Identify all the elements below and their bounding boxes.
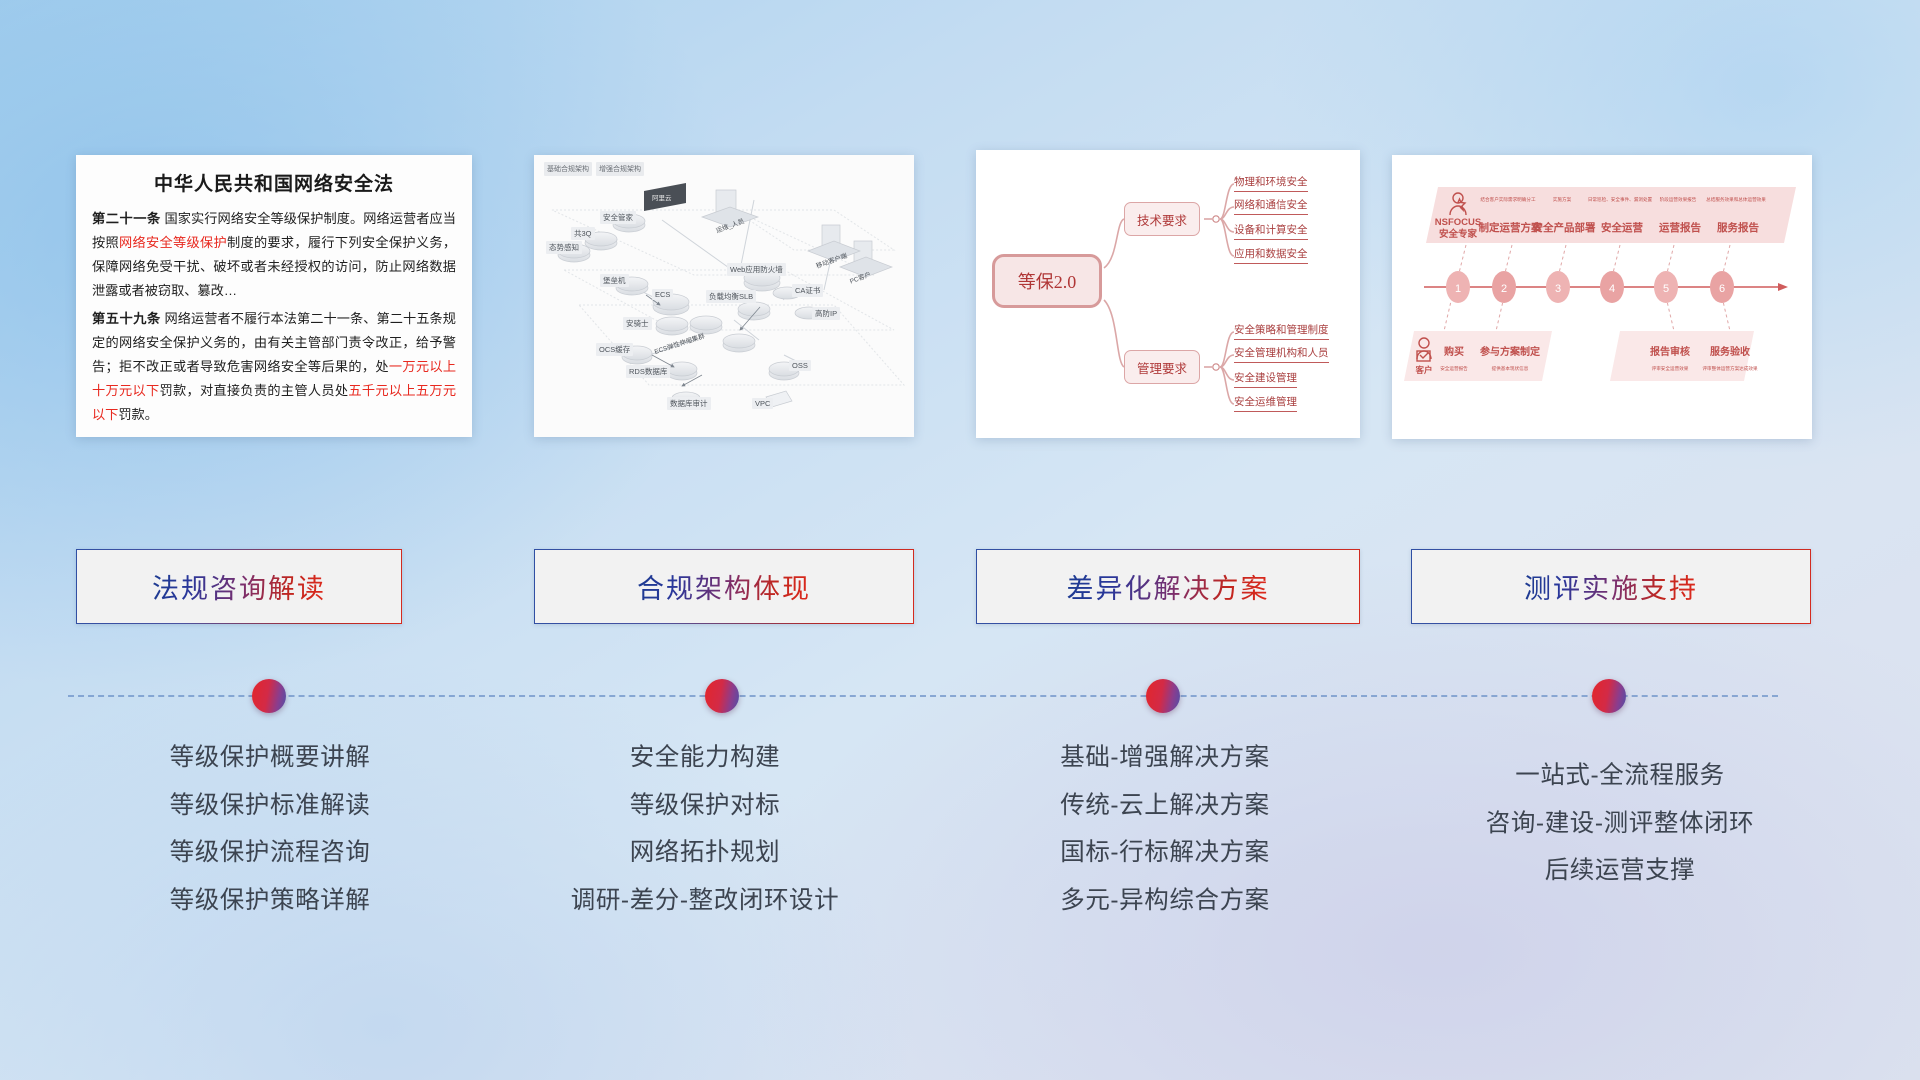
timeline-dot-1[interactable] <box>252 679 286 713</box>
list-item: 调研-差分-整改闭环设计 <box>495 878 915 926</box>
list-item: 传统-云上解决方案 <box>945 783 1385 831</box>
list-item: 多元-异构综合方案 <box>945 878 1385 926</box>
pill-differentiated-solution[interactable]: 差异化解决方案 <box>976 549 1360 624</box>
pill-assessment-support[interactable]: 测评实施支持 <box>1411 549 1811 624</box>
timeline-dashed-line <box>68 695 1778 697</box>
pill-compliance-architecture[interactable]: 合规架构体现 <box>534 549 914 624</box>
list-item: 咨询-建设-测评整体闭环 <box>1400 801 1840 849</box>
list-item: 一站式-全流程服务 <box>1400 753 1840 801</box>
detail-column-1: 等级保护概要讲解 等级保护标准解读 等级保护流程咨询 等级保护策略详解 <box>60 735 480 925</box>
pill-label-1: 法规咨询解读 <box>152 567 326 606</box>
list-item: 等级保护策略详解 <box>60 878 480 926</box>
list-item: 后续运营支撑 <box>1400 848 1840 896</box>
list-item: 等级保护标准解读 <box>60 783 480 831</box>
detail-column-3: 基础-增强解决方案 传统-云上解决方案 国标-行标解决方案 多元-异构综合方案 <box>945 735 1385 925</box>
detail-column-2: 安全能力构建 等级保护对标 网络拓扑规划 调研-差分-整改闭环设计 <box>495 735 915 925</box>
list-item: 基础-增强解决方案 <box>945 735 1385 783</box>
list-item: 安全能力构建 <box>495 735 915 783</box>
timeline-dot-2[interactable] <box>705 679 739 713</box>
list-item: 国标-行标解决方案 <box>945 830 1385 878</box>
pill-regulation-consulting[interactable]: 法规咨询解读 <box>76 549 402 624</box>
pill-label-4: 测评实施支持 <box>1524 567 1698 606</box>
list-item: 网络拓扑规划 <box>495 830 915 878</box>
timeline-dot-3[interactable] <box>1146 679 1180 713</box>
timeline-dot-4[interactable] <box>1592 679 1626 713</box>
list-item: 等级保护流程咨询 <box>60 830 480 878</box>
pill-label-3: 差异化解决方案 <box>1067 567 1270 606</box>
pill-label-2: 合规架构体现 <box>637 567 811 606</box>
list-item: 等级保护概要讲解 <box>60 735 480 783</box>
detail-column-4: 一站式-全流程服务 咨询-建设-测评整体闭环 后续运营支撑 <box>1400 753 1840 896</box>
list-item: 等级保护对标 <box>495 783 915 831</box>
